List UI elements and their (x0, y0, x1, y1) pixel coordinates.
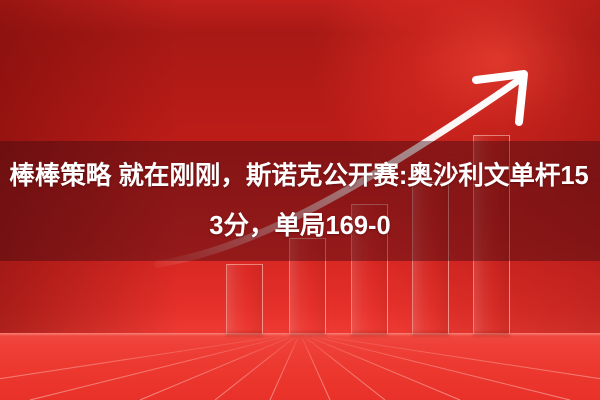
chart-bar (226, 264, 263, 334)
chart-bar-shadow (289, 332, 326, 336)
chart-bar-shadow (473, 332, 510, 336)
headline-line-2: 3分，单局169-0 (209, 201, 390, 251)
chart-bar-shadow (226, 332, 263, 336)
headline: 棒棒策略 就在刚刚，斯诺克公开赛:奥沙利文单杆15 3分，单局169-0 (0, 141, 600, 261)
banner-image: 棒棒策略 就在刚刚，斯诺克公开赛:奥沙利文单杆15 3分，单局169-0 (0, 0, 600, 400)
chart-bar-shadow (412, 332, 449, 336)
headline-line-1: 棒棒策略 就在刚刚，斯诺克公开赛:奥沙利文单杆15 (9, 151, 588, 201)
chart-bar-shadow (351, 332, 388, 336)
